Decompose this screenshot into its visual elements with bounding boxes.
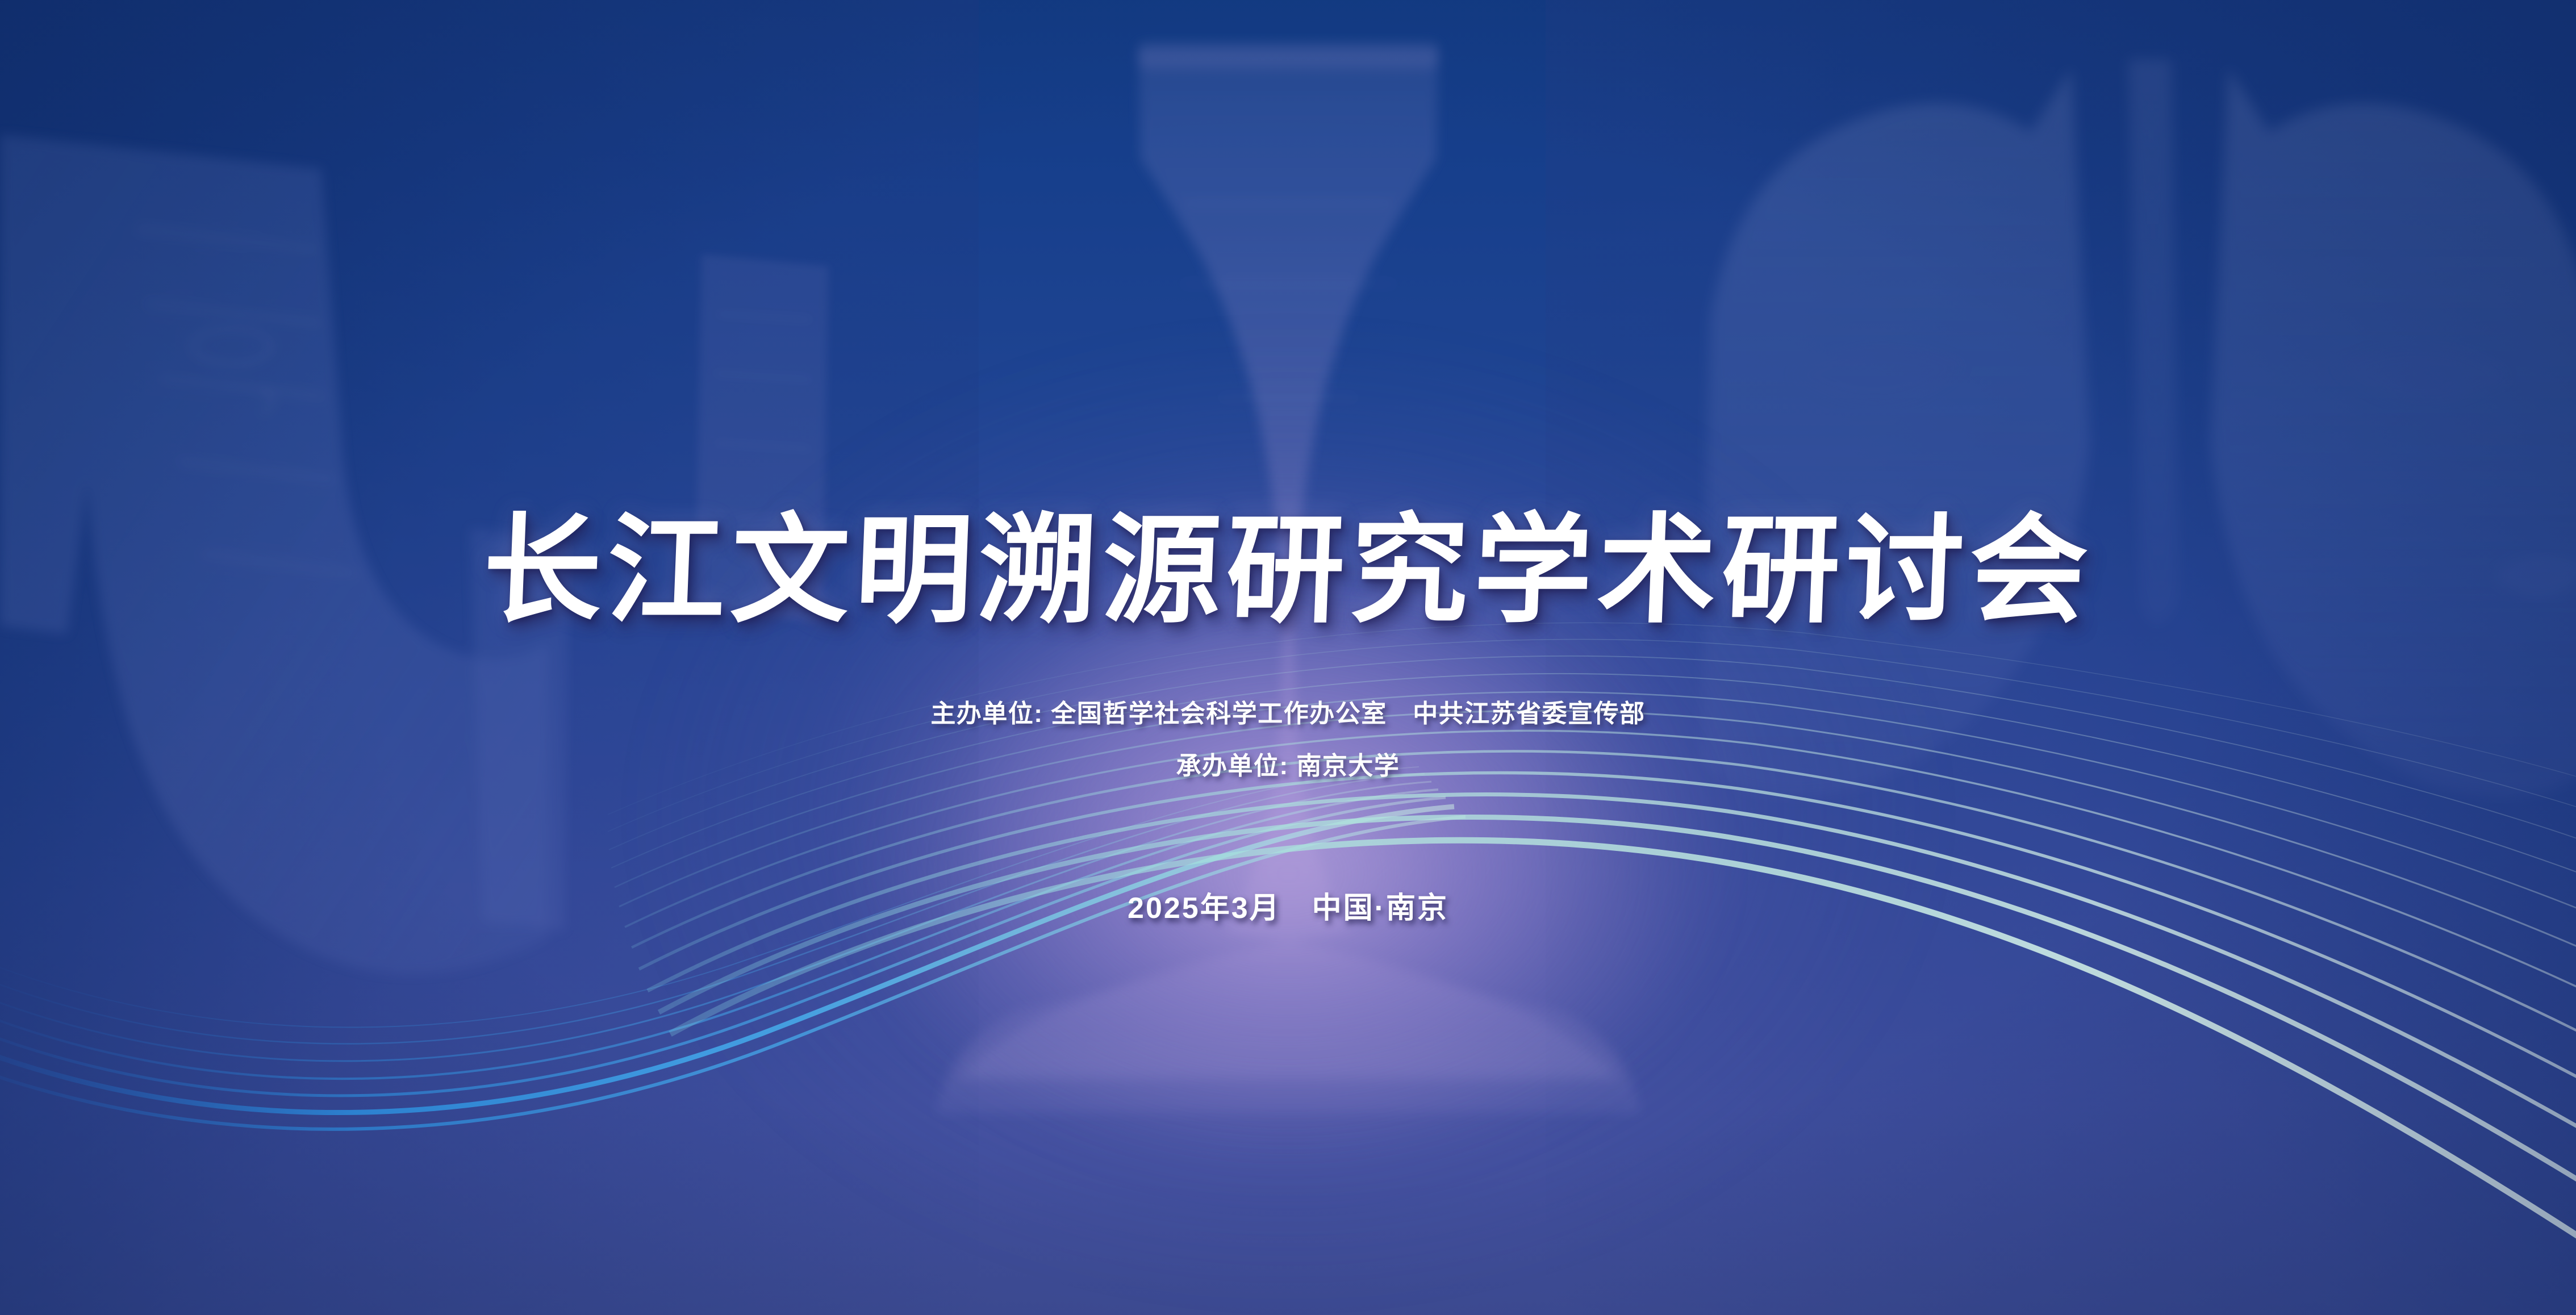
organizer-line: 主办单位: 全国哲学社会科学工作办公室 中共江苏省委宣传部	[930, 693, 1645, 729]
date-location-line: 2025年3月 中国·南京	[1128, 884, 1448, 926]
poster-content: 长江文明溯源研究学术研讨会 主办单位: 全国哲学社会科学工作办公室 中共江苏省委…	[0, 0, 2576, 1315]
conference-poster: 长江文明溯源研究学术研讨会 主办单位: 全国哲学社会科学工作办公室 中共江苏省委…	[0, 0, 2576, 1315]
page-title: 长江文明溯源研究学术研讨会	[481, 511, 2095, 629]
host-line: 承办单位: 南京大学	[1176, 745, 1400, 782]
